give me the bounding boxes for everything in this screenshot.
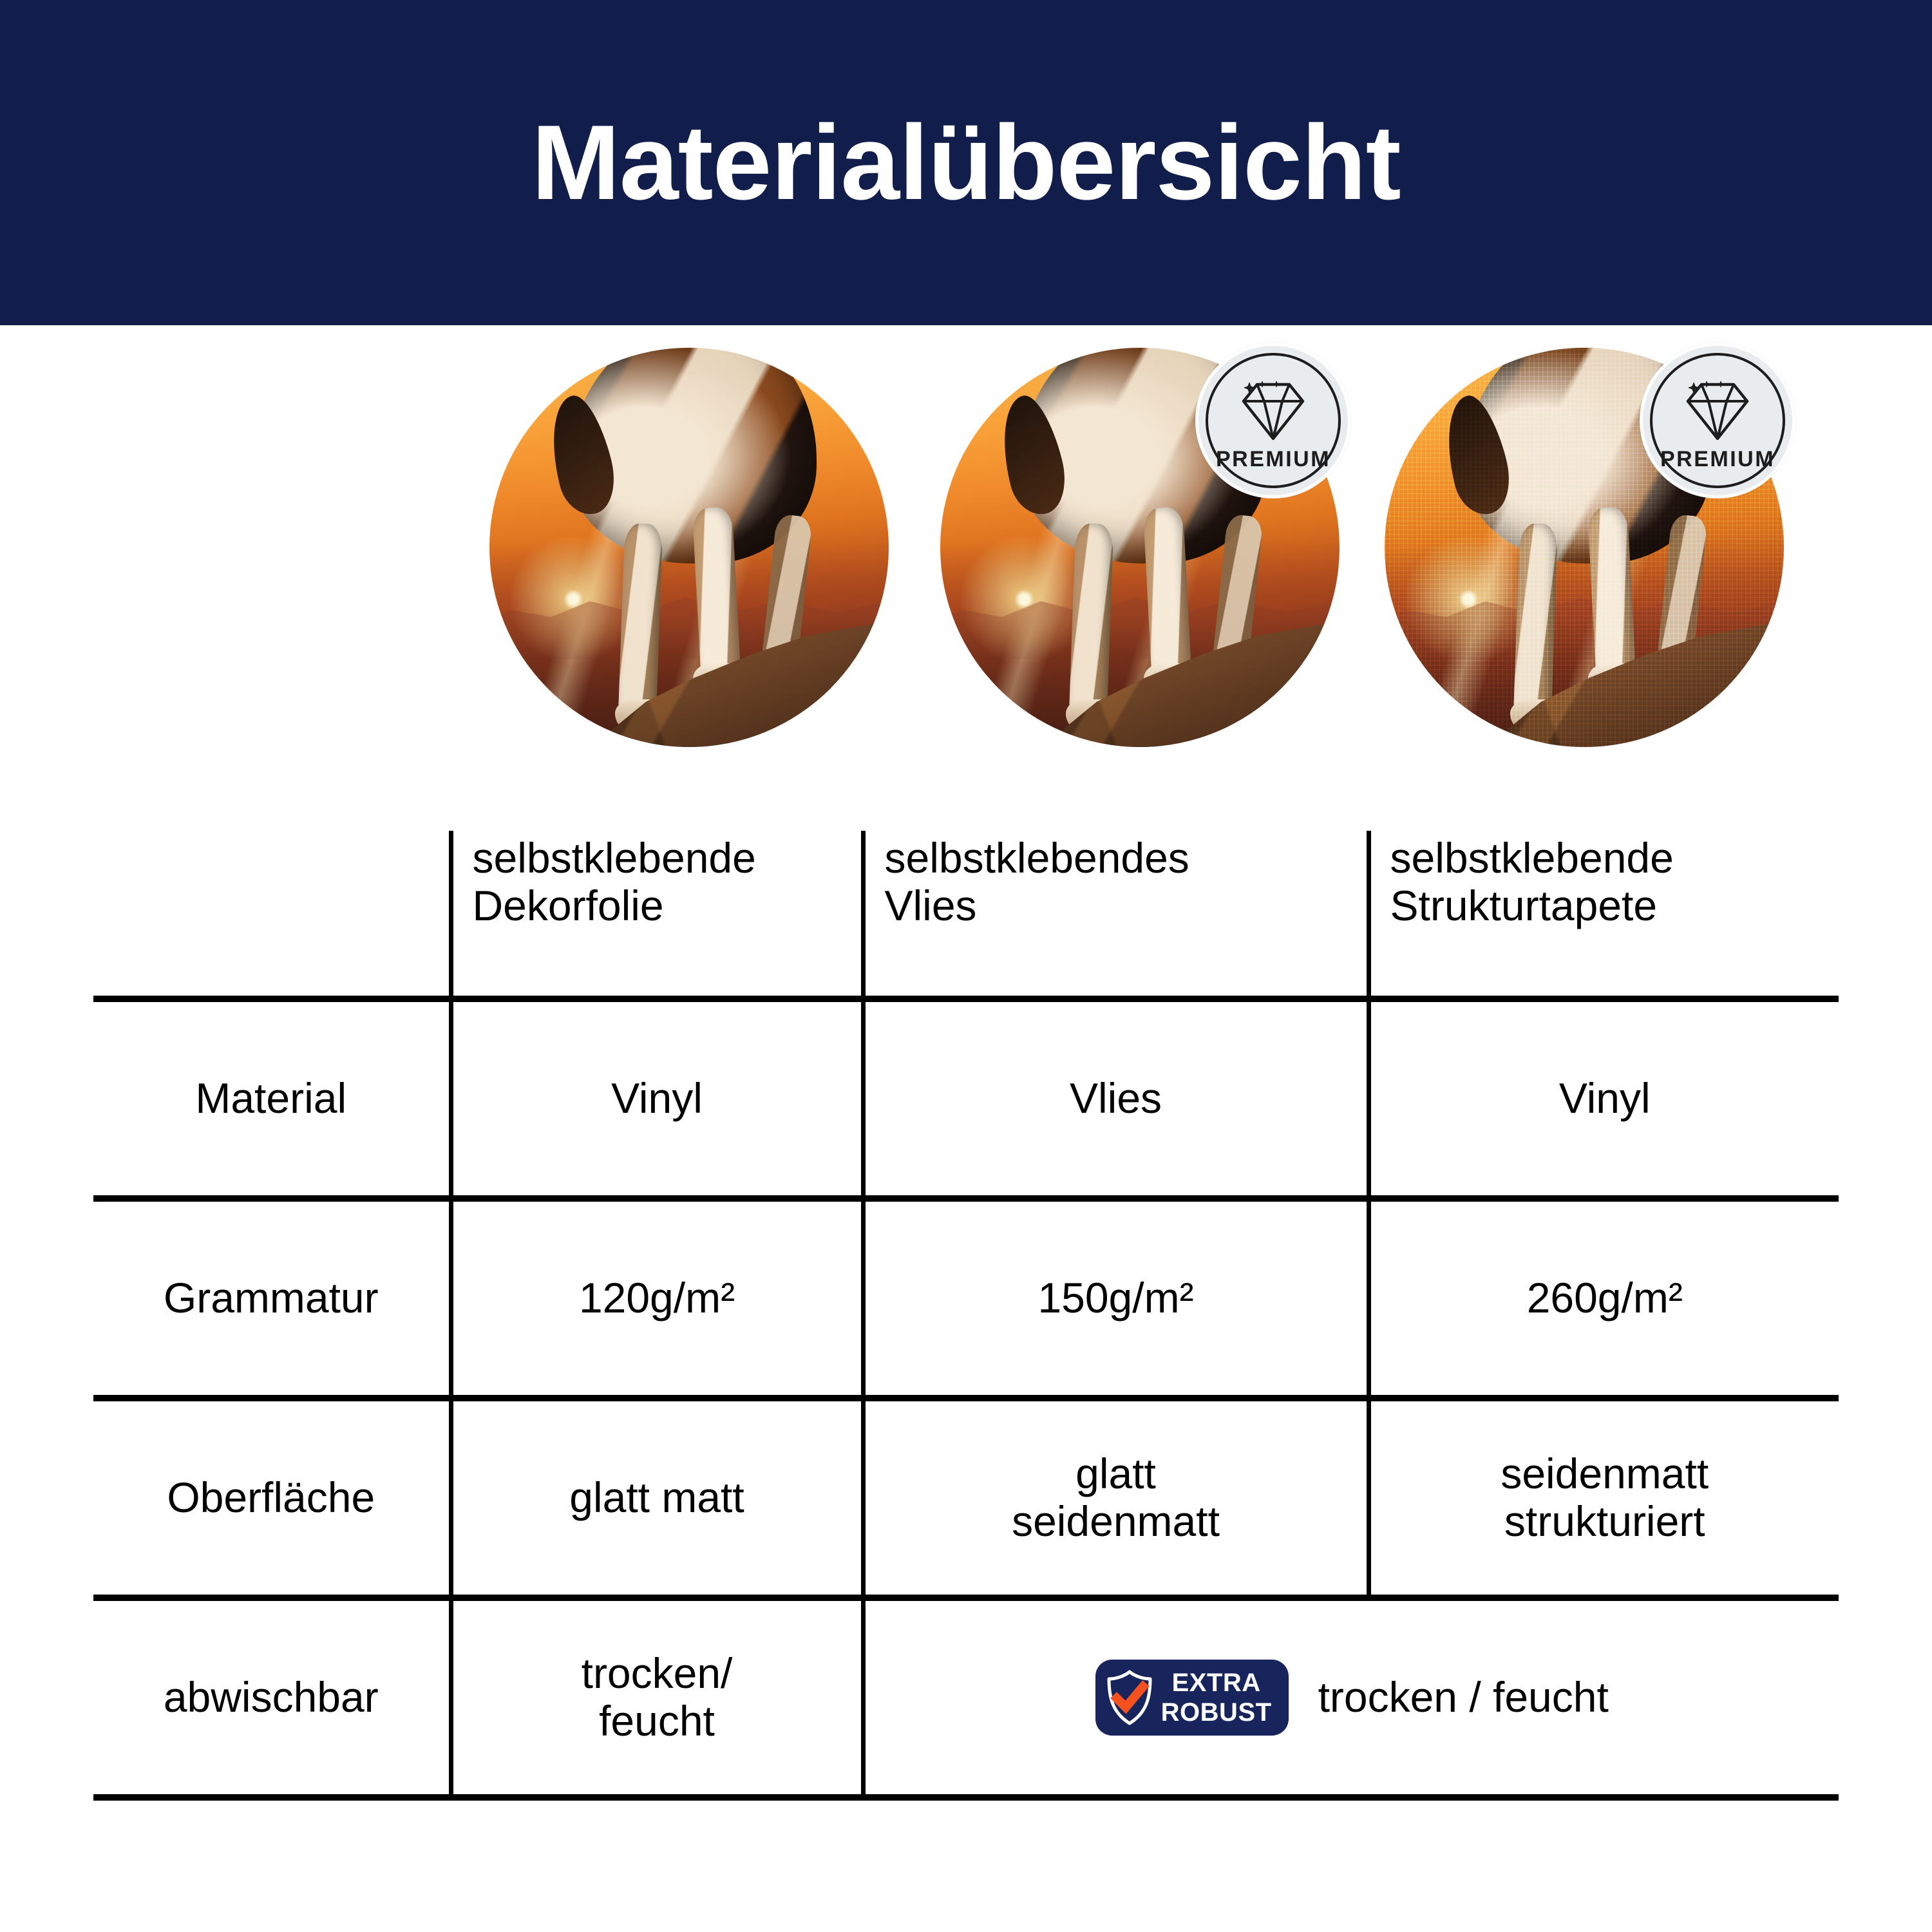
page-header: Materialübersicht <box>0 0 1932 325</box>
table-row: Grammatur 120g/m² 150g/m² 260g/m² <box>93 1198 1839 1398</box>
material-overview-page: Materialübersicht <box>0 0 1932 1932</box>
cell-abwischbar-dekorfolie: trocken/ feucht <box>451 1598 863 1797</box>
column-header-dekorfolie: selbstklebende Dekorfolie <box>451 831 863 999</box>
badge-ring <box>1650 353 1785 488</box>
table-row: Oberfläche glatt matt glatt seidenmatt s… <box>93 1398 1839 1598</box>
column-header-strukturtapete: selbstklebende Strukturtapete <box>1368 831 1839 999</box>
dog-sunset-photo <box>489 348 889 747</box>
cell-abwischbar-vlies-strukturtapete: EXTRA ROBUST trocken / feucht <box>863 1598 1839 1797</box>
cell-material-strukturtapete: Vinyl <box>1368 999 1839 1198</box>
cell-grammatur-dekorfolie: 120g/m² <box>451 1198 863 1398</box>
header-corner-cell <box>93 831 451 999</box>
cell-grammatur-strukturtapete: 260g/m² <box>1368 1198 1839 1398</box>
shield-check-icon <box>1106 1670 1153 1725</box>
swatch-row: PREMIUM <box>0 348 1932 760</box>
row-label-material: Material <box>93 999 451 1198</box>
table-row: Material Vinyl Vlies Vinyl <box>93 999 1839 1198</box>
dog-leg-left <box>1068 523 1113 720</box>
cell-material-dekorfolie: Vinyl <box>451 999 863 1198</box>
swatch-disc <box>489 348 889 747</box>
extra-robust-badge: EXTRA ROBUST <box>1095 1660 1289 1736</box>
premium-badge: PREMIUM <box>1195 343 1351 498</box>
page-title: Materialübersicht <box>531 109 1400 216</box>
premium-badge: PREMIUM <box>1640 343 1795 498</box>
badge-ring <box>1206 353 1341 488</box>
robust-line-2: ROBUST <box>1161 1700 1272 1725</box>
row-label-grammatur: Grammatur <box>93 1198 451 1398</box>
row-label-oberflaeche: Oberfläche <box>93 1398 451 1598</box>
strukturtapete-swatch[interactable]: PREMIUM <box>1385 348 1784 747</box>
vlies-swatch[interactable]: PREMIUM <box>940 348 1340 747</box>
cell-material-vlies: Vlies <box>863 999 1368 1198</box>
row-label-abwischbar: abwischbar <box>93 1598 451 1797</box>
material-comparison-table: selbstklebende Dekorfolie selbstklebende… <box>93 831 1839 1801</box>
dekorfolie-swatch[interactable] <box>489 348 889 747</box>
cell-oberflaeche-strukturtapete: seidenmatt strukturiert <box>1368 1398 1839 1598</box>
table-header-row: selbstklebende Dekorfolie selbstklebende… <box>93 831 1839 999</box>
robust-line-1: EXTRA <box>1161 1670 1272 1696</box>
table-row: abwischbar trocken/ feucht <box>93 1598 1839 1797</box>
cell-oberflaeche-dekorfolie: glatt matt <box>451 1398 863 1598</box>
abwischbar-value-text: trocken / feucht <box>1318 1674 1609 1721</box>
cell-oberflaeche-vlies: glatt seidenmatt <box>863 1398 1368 1598</box>
cell-grammatur-vlies: 150g/m² <box>863 1198 1368 1398</box>
dog-leg-left <box>618 523 662 720</box>
column-header-vlies: selbstklebendes Vlies <box>863 831 1368 999</box>
